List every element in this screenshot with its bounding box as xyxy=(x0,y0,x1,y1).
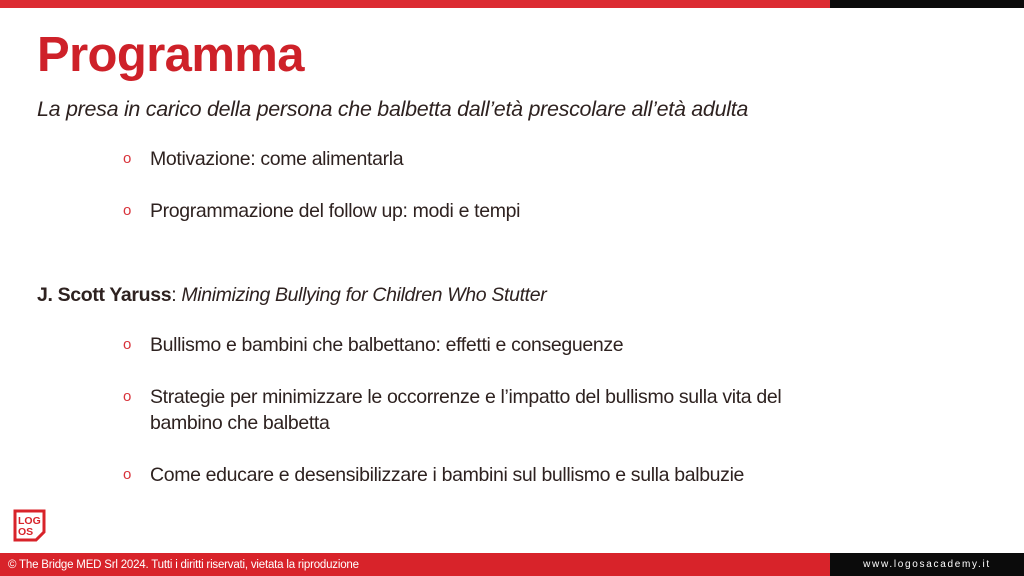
footer-bar: © The Bridge MED Srl 2024. Tutti i dirit… xyxy=(0,553,1024,576)
slide-body: o Motivazione: come alimentarla o Progra… xyxy=(0,146,1024,514)
logos-logo: LOG OS xyxy=(13,509,46,543)
list-item-label: Strategie per minimizzare le occorrenze … xyxy=(150,384,840,436)
list-item: o Bullismo e bambini che balbettano: eff… xyxy=(0,332,1024,358)
bullet-circle-icon: o xyxy=(123,462,150,488)
list-item: o Programmazione del follow up: modi e t… xyxy=(0,198,1024,224)
top-accent-bar-black-segment xyxy=(830,0,1024,8)
list-item-label: Programmazione del follow up: modi e tem… xyxy=(150,198,520,224)
speaker-heading: J. Scott Yaruss: Minimizing Bullying for… xyxy=(0,282,1024,308)
program-section-1: o Motivazione: come alimentarla o Progra… xyxy=(0,146,1024,224)
footer-copyright-text: © The Bridge MED Srl 2024. Tutti i dirit… xyxy=(0,559,359,571)
bullet-circle-icon: o xyxy=(123,332,150,358)
footer-website-band: www.logosacademy.it xyxy=(830,553,1024,576)
list-item-label: Motivazione: come alimentarla xyxy=(150,146,403,172)
footer-copyright-band: © The Bridge MED Srl 2024. Tutti i dirit… xyxy=(0,553,830,576)
list-item: o Motivazione: come alimentarla xyxy=(0,146,1024,172)
top-accent-bar-red-segment xyxy=(0,0,830,8)
list-item-label: Bullismo e bambini che balbettano: effet… xyxy=(150,332,623,358)
logos-logo-icon: LOG OS xyxy=(13,509,46,543)
logo-text-line2: OS xyxy=(18,526,33,538)
list-item: o Strategie per minimizzare le occorrenz… xyxy=(0,384,1024,436)
bullet-circle-icon: o xyxy=(123,146,150,172)
slide-canvas: Programma La presa in carico della perso… xyxy=(0,0,1024,576)
slide-title: Programma xyxy=(37,29,304,82)
list-item: o Come educare e desensibilizzare i bamb… xyxy=(0,462,1024,488)
slide-subtitle: La presa in carico della persona che bal… xyxy=(37,97,748,122)
section-spacer xyxy=(0,250,1024,254)
bullet-circle-icon: o xyxy=(123,384,150,410)
footer-website-text: www.logosacademy.it xyxy=(863,559,991,570)
bullet-circle-icon: o xyxy=(123,198,150,224)
top-accent-bar xyxy=(0,0,1024,8)
speaker-separator: : xyxy=(171,284,181,306)
speaker-name: J. Scott Yaruss xyxy=(37,284,171,306)
list-item-label: Come educare e desensibilizzare i bambin… xyxy=(150,462,744,488)
program-section-2: J. Scott Yaruss: Minimizing Bullying for… xyxy=(0,282,1024,488)
speaker-topic: Minimizing Bullying for Children Who Stu… xyxy=(181,284,546,306)
